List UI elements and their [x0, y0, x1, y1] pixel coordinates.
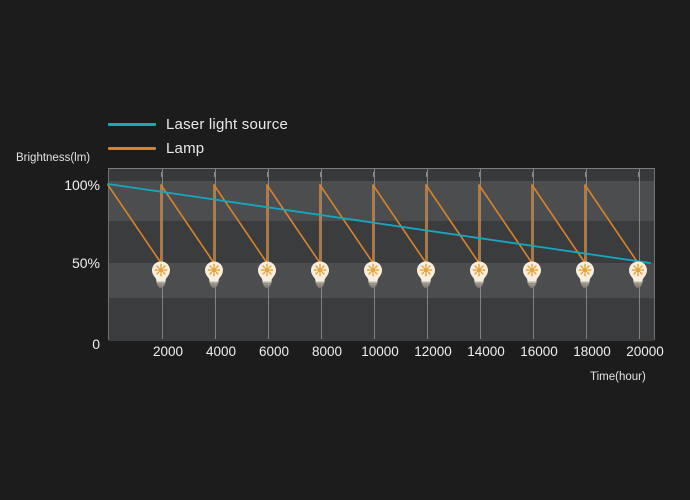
- gridline-x: [162, 169, 163, 339]
- plot-band: [109, 221, 654, 263]
- x-tick-mark: [479, 172, 480, 177]
- gridline-x: [427, 169, 428, 339]
- x-tick-label: 20000: [626, 344, 664, 359]
- x-tick-label: 8000: [312, 344, 342, 359]
- light-bulb-icon: [148, 259, 174, 289]
- gridline-x: [374, 169, 375, 339]
- legend-swatch-laser-icon: [108, 123, 156, 126]
- gridline-x: [586, 169, 587, 339]
- gridline-x: [268, 169, 269, 339]
- legend-swatch-lamp-icon: [108, 147, 156, 150]
- legend-item-lamp: Lamp: [108, 136, 288, 160]
- plot-band: [109, 169, 654, 181]
- light-bulb-icon: [201, 259, 227, 289]
- light-bulb-icon: [360, 259, 386, 289]
- y-tick-label: 100%: [64, 177, 100, 193]
- x-tick-label: 6000: [259, 344, 289, 359]
- x-tick-label: 18000: [573, 344, 611, 359]
- gridline-x: [321, 169, 322, 339]
- gridline-x: [639, 169, 640, 339]
- x-tick-label: 2000: [153, 344, 183, 359]
- x-tick-mark: [320, 172, 321, 177]
- x-tick-label: 10000: [361, 344, 399, 359]
- x-tick-label: 14000: [467, 344, 505, 359]
- plot-band: [109, 298, 654, 341]
- x-tick-label: 12000: [414, 344, 452, 359]
- light-bulb-icon: [307, 259, 333, 289]
- y-tick-label: 50%: [72, 255, 100, 271]
- y-tick-label: 0: [92, 336, 100, 352]
- x-tick-mark: [214, 172, 215, 177]
- plot-band: [109, 181, 654, 221]
- gridline-x: [480, 169, 481, 339]
- legend-item-laser: Laser light source: [108, 112, 288, 136]
- x-tick-label: 16000: [520, 344, 558, 359]
- x-tick-mark: [161, 172, 162, 177]
- x-axis-title: Time(hour): [590, 371, 646, 383]
- light-bulb-icon: [625, 259, 651, 289]
- light-bulb-icon: [466, 259, 492, 289]
- x-tick-mark: [638, 172, 639, 177]
- light-bulb-icon: [413, 259, 439, 289]
- x-tick-mark: [267, 172, 268, 177]
- legend-label-lamp: Lamp: [166, 141, 204, 156]
- x-tick-mark: [373, 172, 374, 177]
- x-tick-mark: [585, 172, 586, 177]
- x-tick-label: 4000: [206, 344, 236, 359]
- chart-legend: Laser light source Lamp: [108, 112, 288, 160]
- gridline-x: [533, 169, 534, 339]
- y-axis-title: Brightness(lm): [16, 152, 90, 164]
- light-bulb-icon: [254, 259, 280, 289]
- light-bulb-icon: [519, 259, 545, 289]
- chart-canvas: Laser light source Lamp Brightness(lm) T…: [0, 0, 690, 500]
- light-bulb-icon: [572, 259, 598, 289]
- x-tick-mark: [532, 172, 533, 177]
- legend-label-laser: Laser light source: [166, 117, 288, 132]
- x-tick-mark: [426, 172, 427, 177]
- gridline-x: [215, 169, 216, 339]
- plot-area: [108, 168, 655, 340]
